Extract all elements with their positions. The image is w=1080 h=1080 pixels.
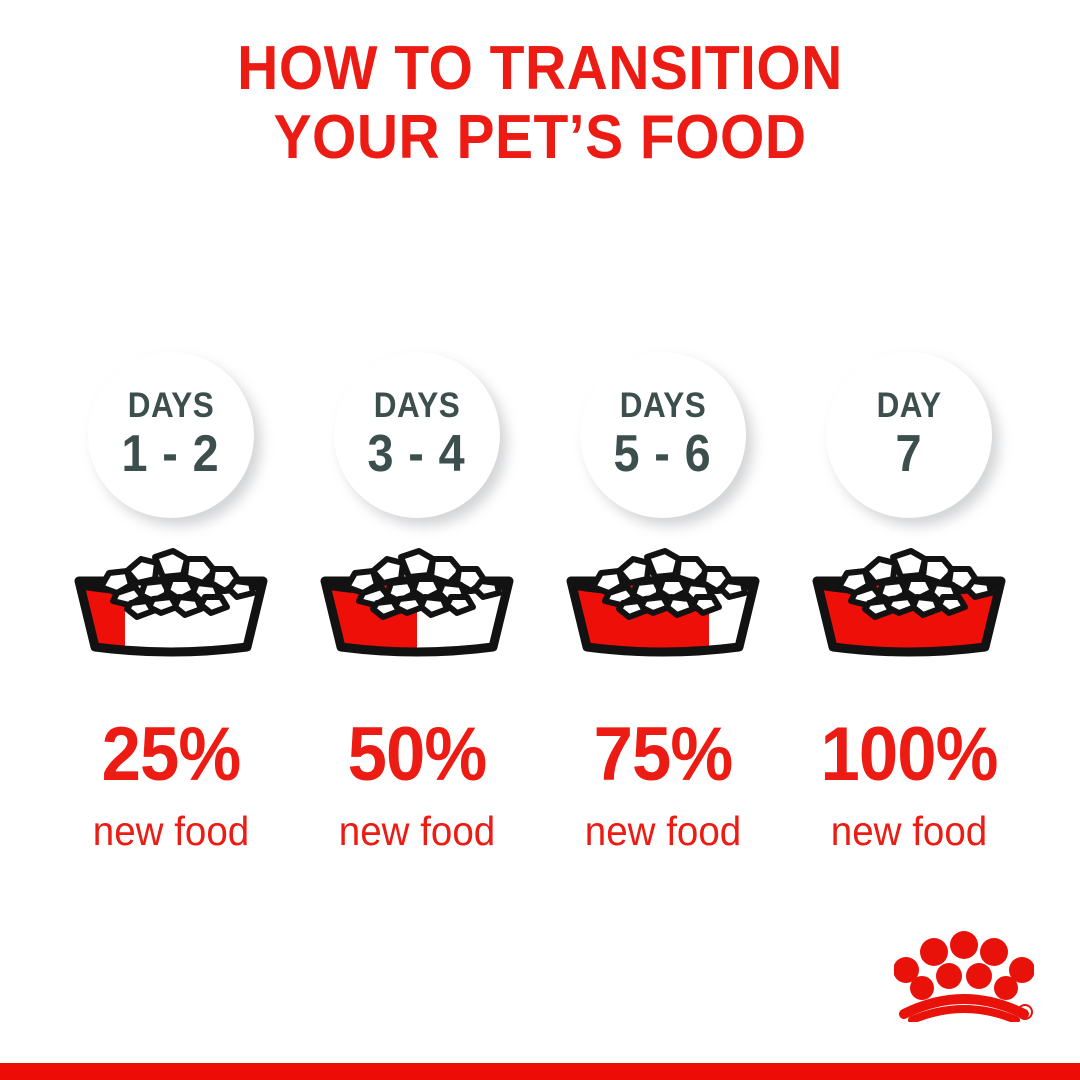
day-badge-word: DAYS <box>374 388 460 423</box>
percent-value: 75% <box>549 717 778 793</box>
dog-food-bowl-icon <box>549 535 777 661</box>
bowl-wrapper <box>294 535 540 685</box>
day-badge-wrapper: DAYS 1 - 2 <box>48 352 294 527</box>
day-badge-word: DAYS <box>128 388 214 423</box>
transition-step: DAYS 3 - 4 <box>294 352 540 852</box>
page-title-line-1: HOW TO TRANSITION <box>43 34 1037 103</box>
day-badge-wrapper: DAYS 3 - 4 <box>294 352 540 527</box>
day-badge: DAY 7 <box>826 352 992 518</box>
transition-step: DAYS 5 - 6 <box>540 352 786 852</box>
day-badge-number: 5 - 6 <box>614 427 712 482</box>
percent-value: 100% <box>795 717 1024 793</box>
dog-food-bowl-icon <box>795 535 1023 661</box>
day-badge-number: 7 <box>896 427 923 482</box>
percent-block: 100% new food <box>786 717 1032 852</box>
crown-dots <box>894 931 1034 1000</box>
day-badge-number: 3 - 4 <box>368 427 466 482</box>
percent-caption: new food <box>301 811 532 852</box>
dog-food-bowl-icon <box>303 535 531 661</box>
percent-caption: new food <box>547 811 778 852</box>
percent-block: 50% new food <box>294 717 540 852</box>
svg-text:R: R <box>1022 1008 1029 1018</box>
page-title-line-2: YOUR PET’S FOOD <box>43 103 1037 172</box>
page-title: HOW TO TRANSITION YOUR PET’S FOOD <box>43 34 1037 173</box>
day-badge: DAYS 1 - 2 <box>88 352 254 518</box>
transition-step: DAYS 1 - 2 <box>48 352 294 852</box>
bottom-accent-bar <box>0 1063 1080 1080</box>
day-badge: DAYS 3 - 4 <box>334 352 500 518</box>
transition-steps: DAYS 1 - 2 <box>48 352 1032 852</box>
bowl-wrapper <box>540 535 786 685</box>
crown-arcs <box>904 999 1024 1020</box>
day-badge-word: DAYS <box>620 388 706 423</box>
day-badge: DAYS 5 - 6 <box>580 352 746 518</box>
percent-caption: new food <box>55 811 286 852</box>
royal-canin-crown-logo: R <box>894 926 1034 1022</box>
bowl-wrapper <box>786 535 1032 685</box>
percent-caption: new food <box>793 811 1024 852</box>
day-badge-word: DAY <box>877 388 942 423</box>
day-badge-wrapper: DAY 7 <box>786 352 1032 527</box>
dog-food-bowl-icon <box>57 535 285 661</box>
day-badge-wrapper: DAYS 5 - 6 <box>540 352 786 527</box>
day-badge-number: 1 - 2 <box>122 427 220 482</box>
percent-value: 50% <box>303 717 532 793</box>
percent-block: 75% new food <box>540 717 786 852</box>
bowl-wrapper <box>48 535 294 685</box>
transition-step: DAY 7 <box>786 352 1032 852</box>
percent-value: 25% <box>57 717 286 793</box>
percent-block: 25% new food <box>48 717 294 852</box>
